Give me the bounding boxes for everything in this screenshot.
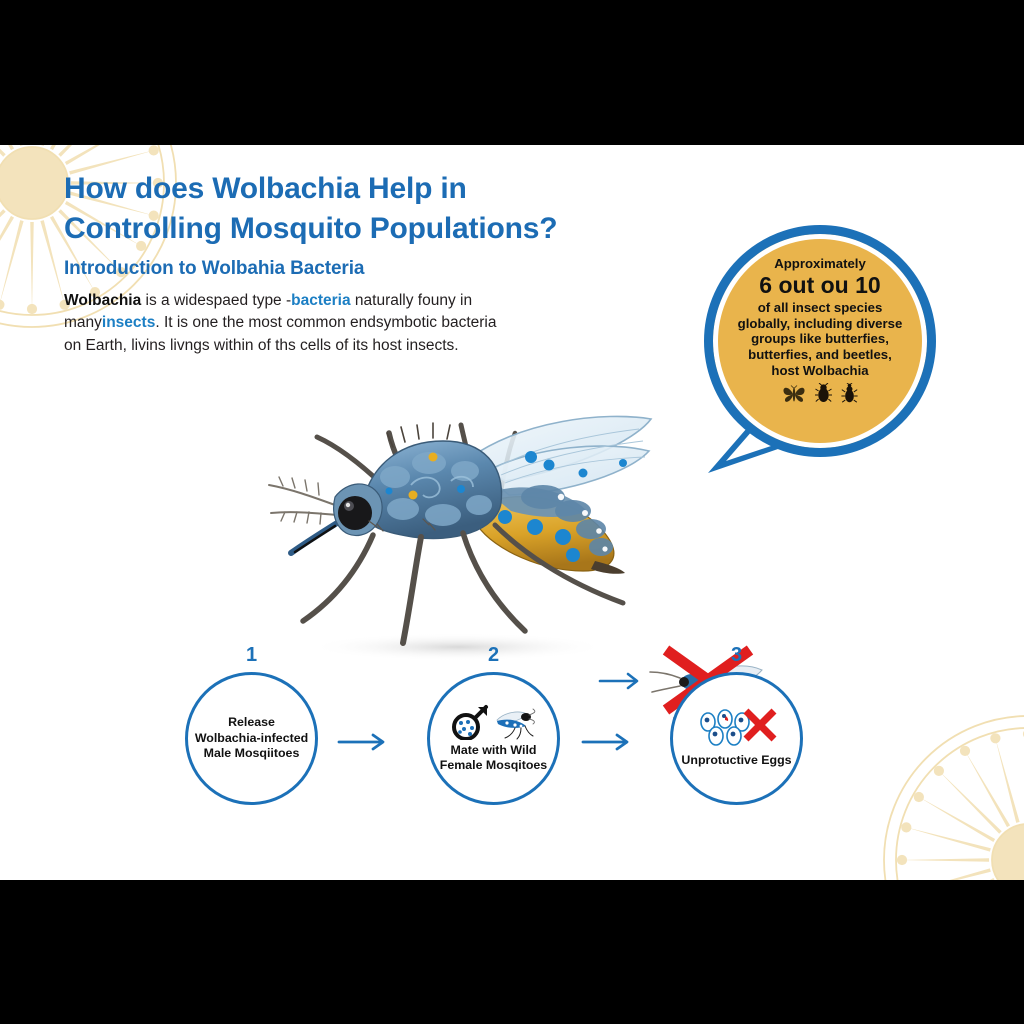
intro-term: Wolbachia xyxy=(64,292,141,309)
chakra-wheel-decoration-bottom-right xyxy=(878,710,1024,880)
step-label-2: Mate with Wild Female Mosqitoes xyxy=(436,743,552,774)
intro-highlight-bacteria: bacteria xyxy=(291,292,350,309)
step-arrow-2 xyxy=(581,732,635,752)
callout-line-5: butterfies, and beetles, xyxy=(717,347,922,363)
butterfly-icon xyxy=(782,385,806,403)
letterbox-top xyxy=(0,0,1024,145)
intro-seg2: is a widespaed type - xyxy=(141,292,291,309)
process-step-2[interactable]: 2 xyxy=(427,650,562,785)
bug-icon xyxy=(841,383,858,403)
callout-insect-icons xyxy=(782,383,858,403)
callout-line-1: Approximately xyxy=(717,256,922,272)
step-number-2: 2 xyxy=(427,644,560,667)
section-subtitle: Introduction to Wolbahia Bacteria xyxy=(64,258,364,280)
step-circle-3[interactable]: Unprotuctive Eggs xyxy=(670,672,803,805)
slide-canvas: How does Wolbachia Help in Controlling M… xyxy=(0,0,1024,1024)
mosquito-illustration xyxy=(243,385,663,675)
eggs-crossed-out-icon xyxy=(694,708,780,750)
step-label-1: Release Wolbachia-infected Male Mosqiito… xyxy=(194,715,310,761)
callout-line-6: host Wolbachia xyxy=(717,363,922,379)
step-circle-1[interactable]: Release Wolbachia-infected Male Mosqiito… xyxy=(185,672,318,805)
step-number-1: 1 xyxy=(185,644,318,667)
slide-content: How does Wolbachia Help in Controlling M… xyxy=(0,145,1024,880)
intro-paragraph: Wolbachia is a widespaed type -bacteria … xyxy=(64,290,516,357)
step-arrow-1 xyxy=(337,732,391,752)
beetle-icon xyxy=(815,383,832,403)
step-label-3: Unprotuctive Eggs xyxy=(679,753,795,768)
page-title-line2: Controlling Mosquito Populations? xyxy=(64,209,664,249)
intro-highlight-insects: insects xyxy=(102,314,155,331)
callout-line-2: of all insect species xyxy=(717,300,922,316)
page-title: How does Wolbachia Help in Controlling M… xyxy=(64,169,664,249)
process-step-1[interactable]: 1 Release Wolbachia-infected Male Mosqii… xyxy=(185,650,320,785)
letterbox-bottom xyxy=(0,880,1024,1024)
process-steps: 1 Release Wolbachia-infected Male Mosqii… xyxy=(185,650,845,850)
step-number-3: 3 xyxy=(670,644,803,667)
male-symbol-and-mosquito-icon xyxy=(451,704,537,740)
callout-bubble: Approximately 6 out ou 10 of all insect … xyxy=(704,225,936,457)
statistic-callout: Approximately 6 out ou 10 of all insect … xyxy=(690,225,970,525)
callout-line-4: groups like butterfies, xyxy=(717,331,922,347)
callout-headline: 6 out ou 10 xyxy=(717,273,922,299)
process-step-3[interactable]: 3 xyxy=(670,650,805,785)
callout-line-3: globally, including diverse xyxy=(717,316,922,332)
page-title-line1: How does Wolbachia Help in xyxy=(64,169,664,209)
step-circle-2[interactable]: Mate with Wild Female Mosqitoes xyxy=(427,672,560,805)
